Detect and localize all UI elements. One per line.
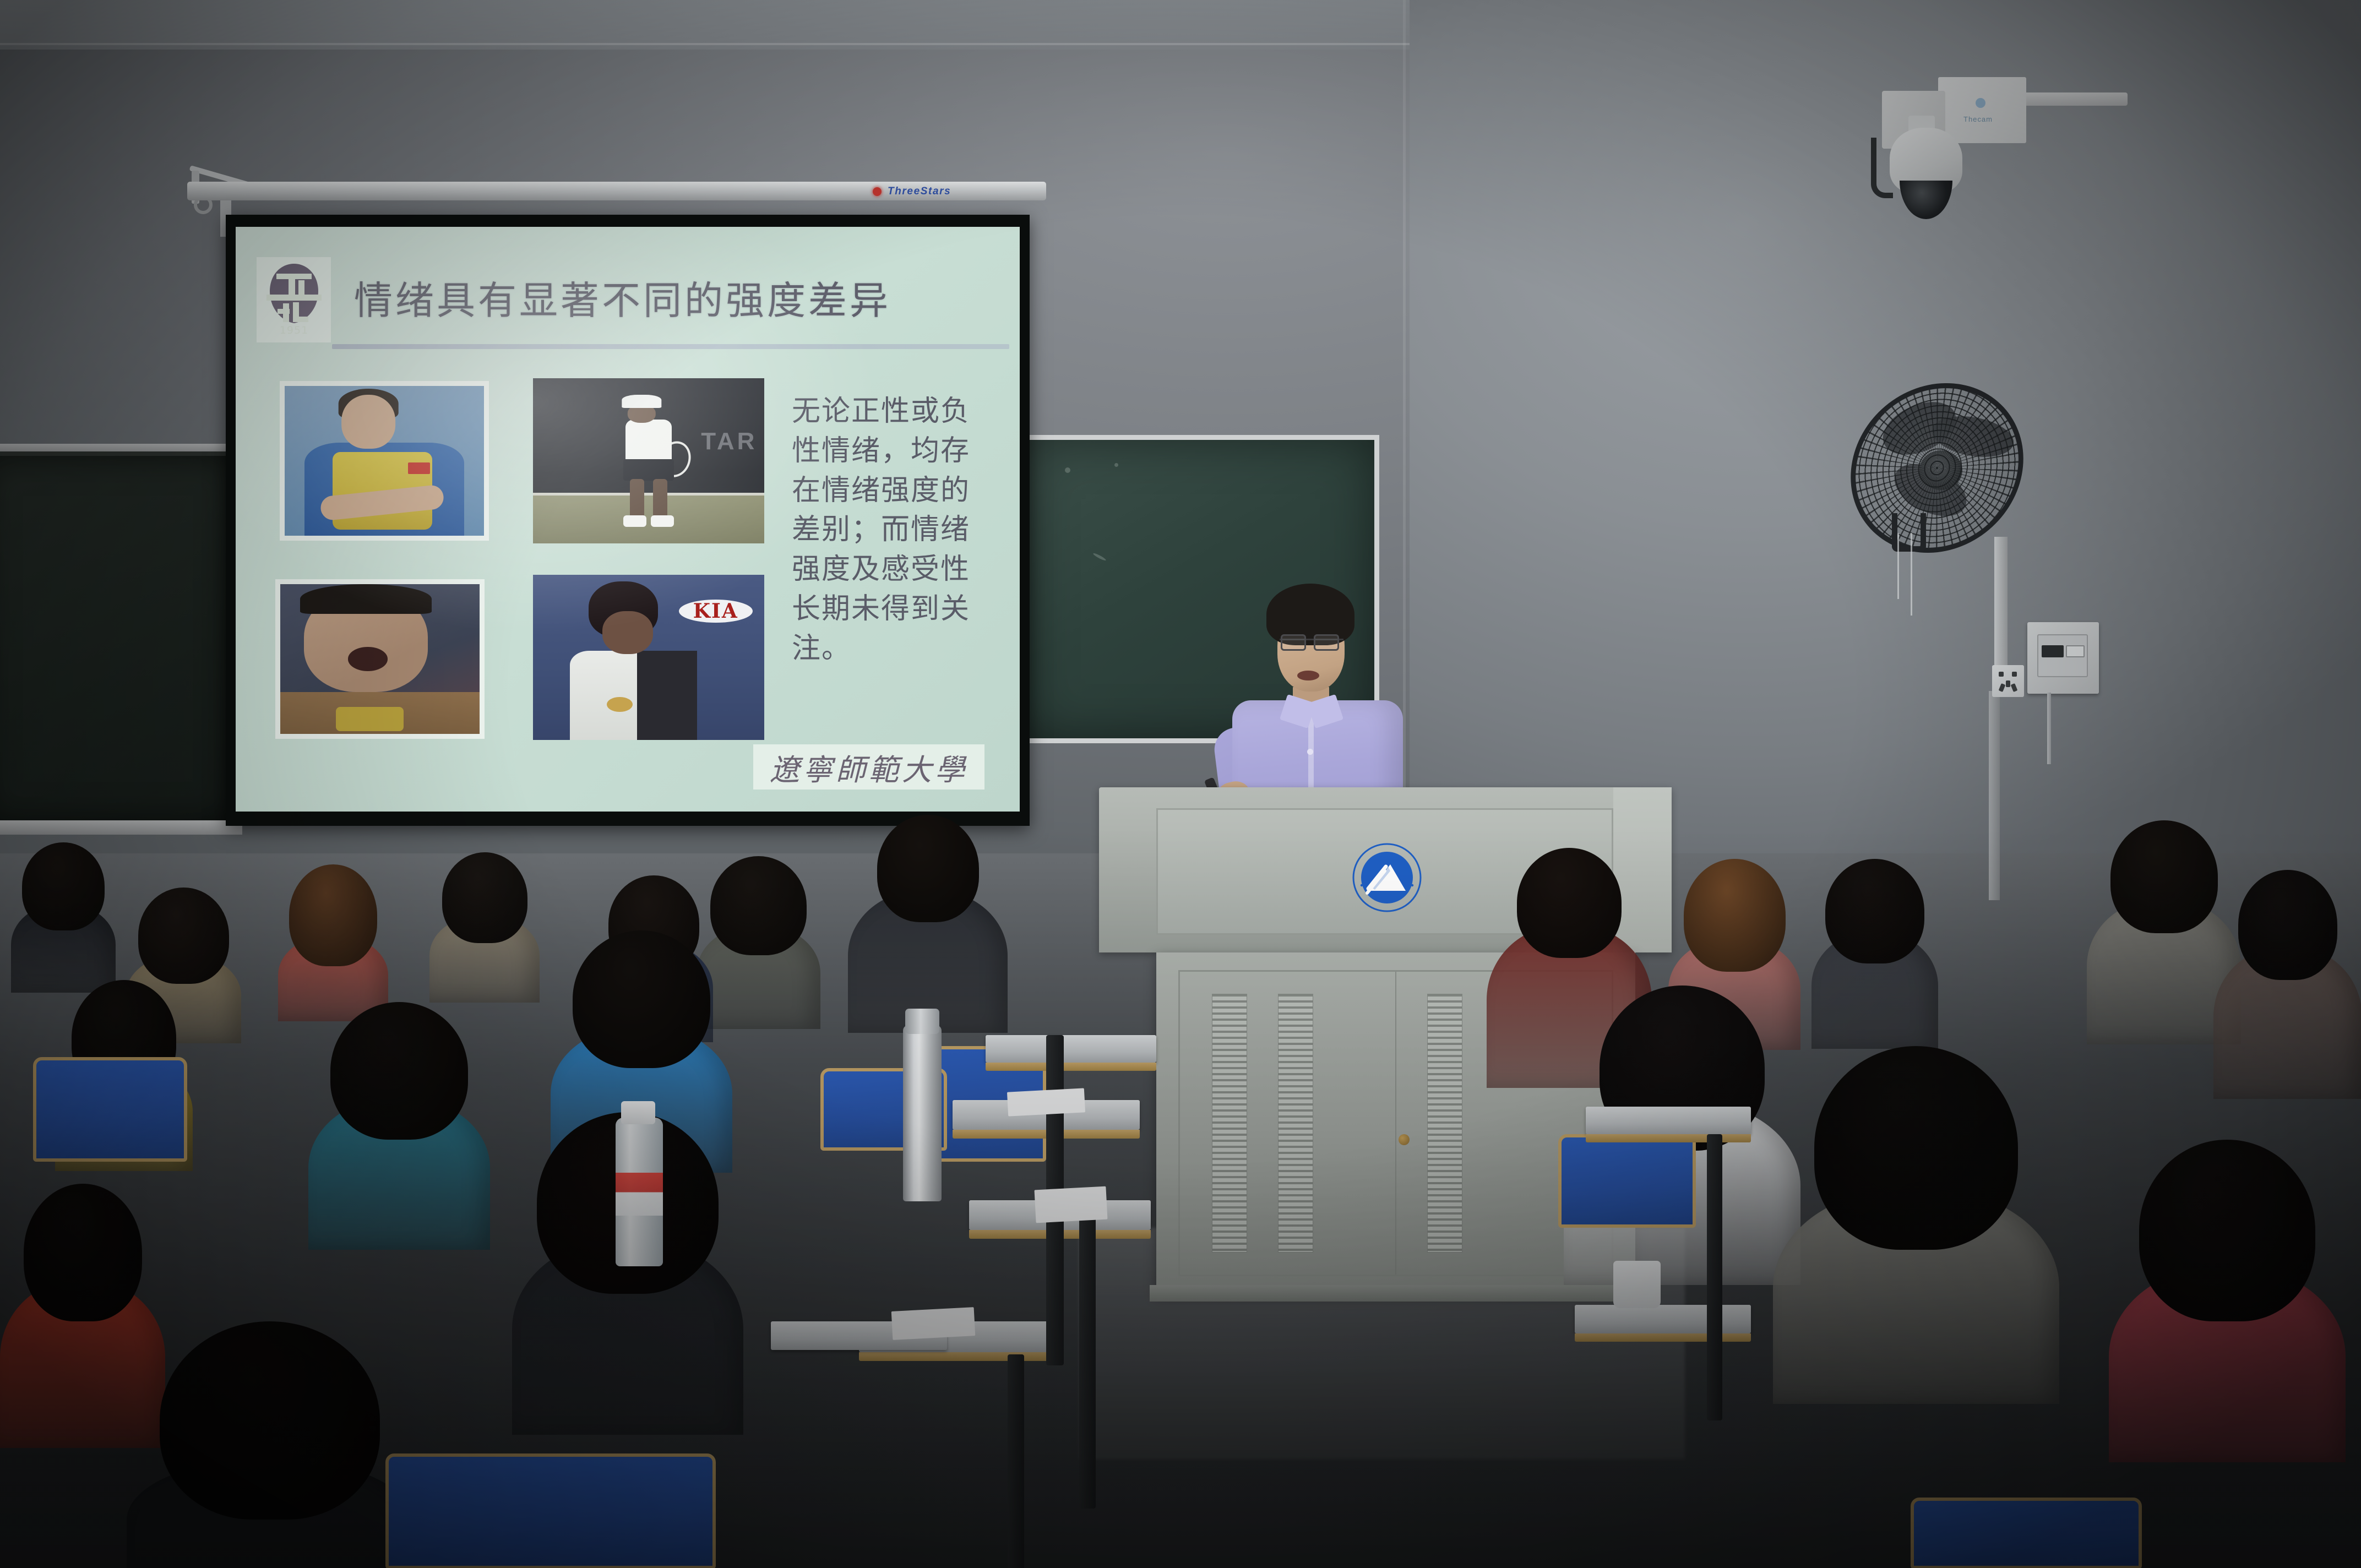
person-head: [1684, 859, 1786, 972]
slide-photo-shouting-face: [275, 579, 485, 739]
paper-notes[interactable]: [1007, 1088, 1085, 1116]
person-head: [573, 930, 710, 1068]
person-head: [22, 842, 105, 930]
person-head: [2238, 870, 2337, 980]
wall-conduit-pipe: [1994, 537, 2008, 669]
paper-notes[interactable]: [891, 1307, 976, 1340]
wall-fan-icon[interactable]: [1849, 385, 2025, 551]
lecture-chair[interactable]: [1911, 1498, 2142, 1568]
water-bottle-cap[interactable]: [621, 1101, 655, 1124]
paper-cup[interactable]: [1613, 1261, 1661, 1308]
chalkboard-left-tray: [0, 820, 242, 835]
person-head: [1814, 1046, 2018, 1250]
lecture-hall-scene: ThreeStars: [0, 0, 2361, 1568]
person-head: [138, 888, 229, 984]
wall-seam: [1403, 0, 1406, 903]
person-head: [289, 864, 377, 966]
student-ponytail: [278, 864, 388, 1013]
lecture-chair[interactable]: [385, 1453, 716, 1568]
person-head: [1517, 848, 1622, 958]
power-outlet-icon[interactable]: [1992, 665, 2024, 697]
person-head: [442, 852, 527, 943]
panel-drop-wire: [2047, 693, 2051, 764]
student-front-left: [127, 1321, 413, 1568]
fan-pull-cord[interactable]: [1897, 533, 1899, 599]
slide-footer-text: 遼寧師範大學: [770, 745, 968, 789]
cabinet-door-left[interactable]: [1180, 972, 1396, 1275]
slide-footer-university: 遼寧師範大學: [753, 744, 984, 790]
camera-conduit: [2017, 92, 2128, 106]
student-dark-suit: [848, 815, 1008, 1024]
slide-title-divider: [332, 344, 1009, 349]
slide-photo-signage-tar: TAR: [701, 428, 757, 455]
breaker-switch-2-icon[interactable]: [2066, 645, 2085, 657]
person-head: [2139, 1140, 2315, 1321]
lecture-chair[interactable]: [1558, 1134, 1696, 1228]
tablet-desk[interactable]: [1586, 1107, 1751, 1134]
tablet-desk[interactable]: [1575, 1305, 1751, 1333]
chalkboard-left: [0, 451, 237, 826]
university-logo-slide: 1951: [257, 257, 331, 342]
student-dark-top: [1811, 859, 1938, 1041]
slide-body-text: 无论正性或负性情绪，均存在情绪强度的差别；而情绪强度及感受性长期未得到关注。: [792, 392, 973, 668]
slide-photo-signage-kia: KIA: [679, 600, 753, 623]
person-head: [160, 1321, 380, 1520]
tablet-desk[interactable]: [986, 1035, 1156, 1063]
student-grey-hoodie: [1773, 1046, 2059, 1387]
slide-title: 情绪具有显著不同的强度差异: [354, 270, 1015, 325]
lectern-base: [1150, 1285, 1642, 1302]
camera-indicator-icon: [1976, 98, 1985, 108]
projection-screen: 1951 情绪具有显著不同的强度差异 TAR: [226, 215, 1030, 826]
paper-notes[interactable]: [1035, 1186, 1108, 1223]
student-pink-right: [2109, 1140, 2346, 1448]
wall-conduit-pipe-lower: [1989, 691, 2000, 900]
student-short-hair: [429, 852, 540, 995]
university-emblem-icon: [1352, 842, 1422, 913]
presentation-slide: 1951 情绪具有显著不同的强度差异 TAR: [236, 227, 1020, 812]
person-head: [24, 1184, 142, 1321]
water-bottle-label: [616, 1173, 663, 1216]
thermos-flask[interactable]: [903, 1025, 942, 1201]
three-stars-logo-icon: [873, 187, 882, 196]
person-head: [330, 1002, 468, 1140]
student-plaid-shirt: [308, 1002, 490, 1239]
slide-photo-tennis-court: TAR: [533, 378, 764, 543]
student-far-right: [2213, 870, 2361, 1090]
screen-brand-label: ThreeStars: [888, 186, 951, 198]
person-head: [877, 815, 979, 922]
person-head: [2110, 820, 2218, 933]
svg-text:1951: 1951: [279, 324, 308, 336]
thermos-cap[interactable]: [905, 1009, 939, 1034]
breaker-switch-icon[interactable]: [2042, 645, 2064, 657]
fan-pull-cord-2[interactable]: [1911, 533, 1912, 616]
cabinet-lock-icon[interactable]: [1399, 1134, 1410, 1145]
person-head: [1825, 859, 1924, 963]
slide-photo-table-tennis: [280, 381, 489, 541]
camera-box-label: Thecam: [1963, 115, 1993, 123]
slide-photo-kia-board: KIA: [533, 575, 764, 740]
lecture-chair[interactable]: [33, 1057, 187, 1162]
student-dark-jacket: [11, 842, 116, 986]
camera-junction-box: [1938, 77, 2026, 143]
